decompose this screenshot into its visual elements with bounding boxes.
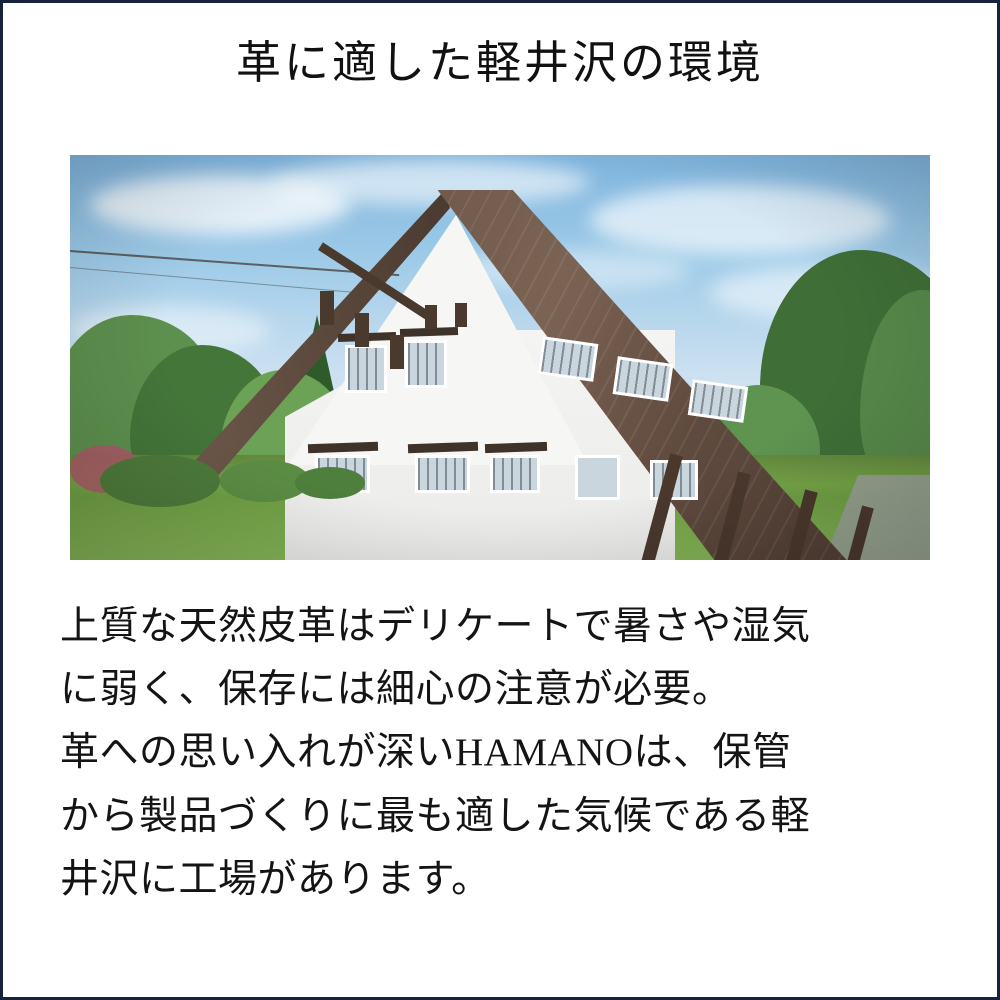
- window-bars: [348, 348, 384, 390]
- shrub: [295, 467, 365, 499]
- window-bars: [691, 383, 745, 420]
- eave-bracket: [355, 313, 369, 347]
- cloud: [590, 185, 890, 255]
- page-title: 革に適した軽井沢の環境: [0, 36, 1000, 90]
- body-line: 上質な天然皮革はデリケートで暑さや湿気: [60, 595, 940, 658]
- page-container: 革に適した軽井沢の環境: [0, 0, 1000, 1000]
- body-line: に弱く、保存には細心の注意が必要。: [60, 658, 940, 721]
- eave-bracket: [320, 291, 334, 325]
- photo-scene: [70, 155, 930, 560]
- cloud: [270, 160, 590, 205]
- window: [538, 336, 599, 381]
- shrub: [100, 455, 220, 507]
- eave-bracket: [455, 303, 467, 327]
- window-bars: [541, 340, 595, 379]
- window-bars: [493, 458, 537, 490]
- window: [490, 455, 540, 493]
- door: [575, 455, 620, 500]
- window-bars: [418, 458, 467, 490]
- window: [415, 455, 470, 493]
- factory-building-photo: [70, 155, 930, 560]
- body-line: 革への思い入れが深いHAMANOは、保管: [60, 721, 940, 784]
- eave-bracket: [425, 305, 437, 329]
- window-bars: [408, 343, 444, 385]
- body-line: 井沢に工場があります。: [60, 848, 940, 911]
- window: [405, 340, 447, 388]
- window: [345, 345, 387, 393]
- window: [688, 379, 748, 422]
- eave-bracket: [390, 335, 404, 369]
- body-line: から製品づくりに最も適した気候である軽: [60, 785, 940, 848]
- window-bars: [616, 360, 670, 399]
- body-text: 上質な天然皮革はデリケートで暑さや湿気 に弱く、保存には細心の注意が必要。 革へ…: [60, 595, 940, 911]
- window: [613, 356, 674, 401]
